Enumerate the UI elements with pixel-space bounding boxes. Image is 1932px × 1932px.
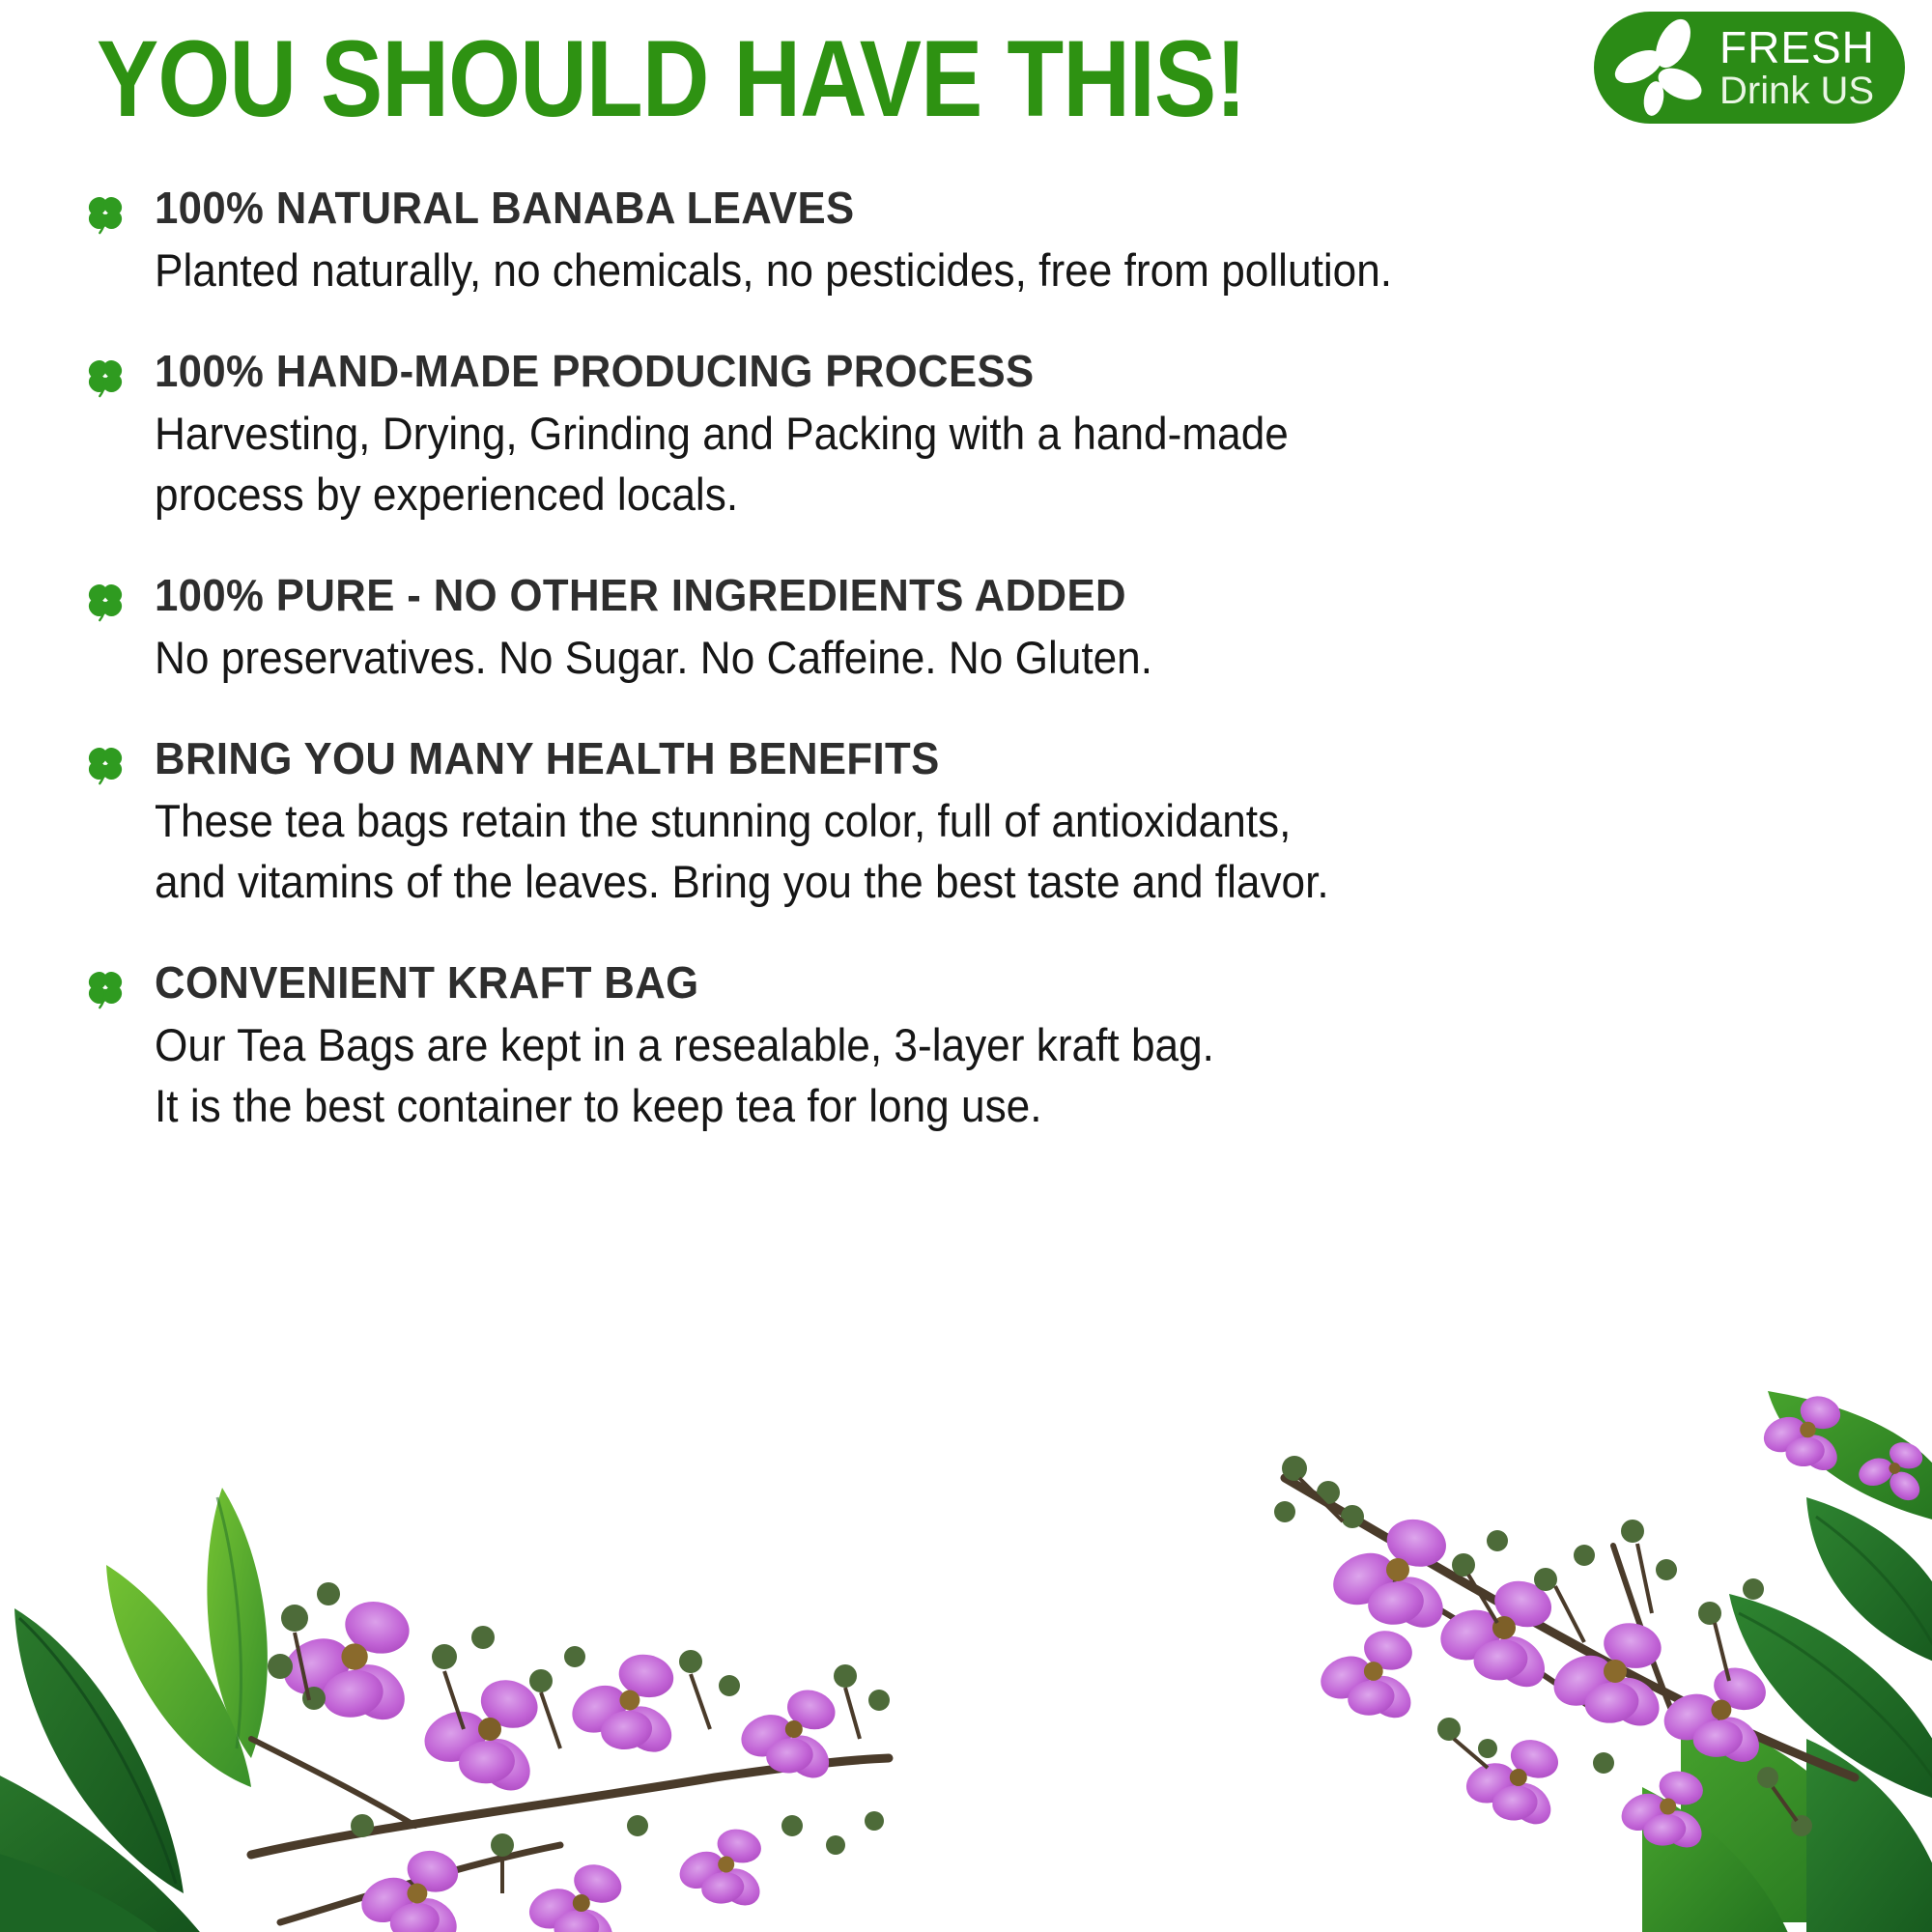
brand-logo: FRESH Drink US (1594, 12, 1905, 124)
banaba-flower-branch-right (1227, 1323, 1932, 1932)
header: YOU SHOULD HAVE THIS! FRESH Drink US (0, 0, 1932, 164)
four-leaf-clover-icon (83, 355, 128, 399)
feature-heading: 100% PURE - NO OTHER INGREDIENTS ADDED (155, 567, 1843, 623)
feature-description-line: Harvesting, Drying, Grinding and Packing… (155, 403, 1826, 464)
logo-brand-name: FRESH (1719, 25, 1875, 70)
feature-description-line: It is the best container to keep tea for… (155, 1075, 1826, 1136)
feature-description: These tea bags retain the stunning color… (155, 790, 1826, 912)
four-leaf-clover-icon (83, 966, 128, 1010)
feature-description-line: process by experienced locals. (155, 464, 1826, 525)
logo-tagline: Drink US (1719, 71, 1875, 110)
feature-item: 100% PURE - NO OTHER INGREDIENTS ADDEDNo… (0, 567, 1932, 688)
four-leaf-clover-icon (83, 742, 128, 786)
feature-heading: BRING YOU MANY HEALTH BENEFITS (155, 730, 1843, 786)
feature-description-line: Planted naturally, no chemicals, no pest… (155, 240, 1826, 300)
feature-item: 100% HAND-MADE PRODUCING PROCESSHarvesti… (0, 343, 1932, 525)
feature-item: 100% NATURAL BANABA LEAVESPlanted natura… (0, 180, 1932, 300)
feature-description-line: Our Tea Bags are kept in a resealable, 3… (155, 1014, 1826, 1075)
feature-heading: CONVENIENT KRAFT BAG (155, 954, 1843, 1010)
banaba-flower-branch-left (0, 1439, 927, 1932)
feature-item: CONVENIENT KRAFT BAGOur Tea Bags are kep… (0, 954, 1932, 1136)
feature-item: BRING YOU MANY HEALTH BENEFITSThese tea … (0, 730, 1932, 912)
feature-description-line: No preservatives. No Sugar. No Caffeine.… (155, 627, 1826, 688)
logo-text-block: FRESH Drink US (1719, 25, 1875, 110)
feature-description-line: These tea bags retain the stunning color… (155, 790, 1826, 851)
feature-description: Our Tea Bags are kept in a resealable, 3… (155, 1014, 1826, 1136)
four-leaf-clover-icon (83, 191, 128, 236)
feature-description: Harvesting, Drying, Grinding and Packing… (155, 403, 1826, 525)
feature-description: No preservatives. No Sugar. No Caffeine.… (155, 627, 1826, 688)
leaf-cluster-icon (1611, 16, 1714, 119)
feature-description: Planted naturally, no chemicals, no pest… (155, 240, 1826, 300)
page-title: YOU SHOULD HAVE THIS! (97, 25, 1246, 133)
feature-description-line: and vitamins of the leaves. Bring you th… (155, 851, 1826, 912)
infographic-page: YOU SHOULD HAVE THIS! FRESH Drink US (0, 0, 1932, 1932)
feature-list: 100% NATURAL BANABA LEAVESPlanted natura… (0, 180, 1932, 1179)
feature-heading: 100% NATURAL BANABA LEAVES (155, 180, 1843, 236)
feature-heading: 100% HAND-MADE PRODUCING PROCESS (155, 343, 1843, 399)
four-leaf-clover-icon (83, 579, 128, 623)
